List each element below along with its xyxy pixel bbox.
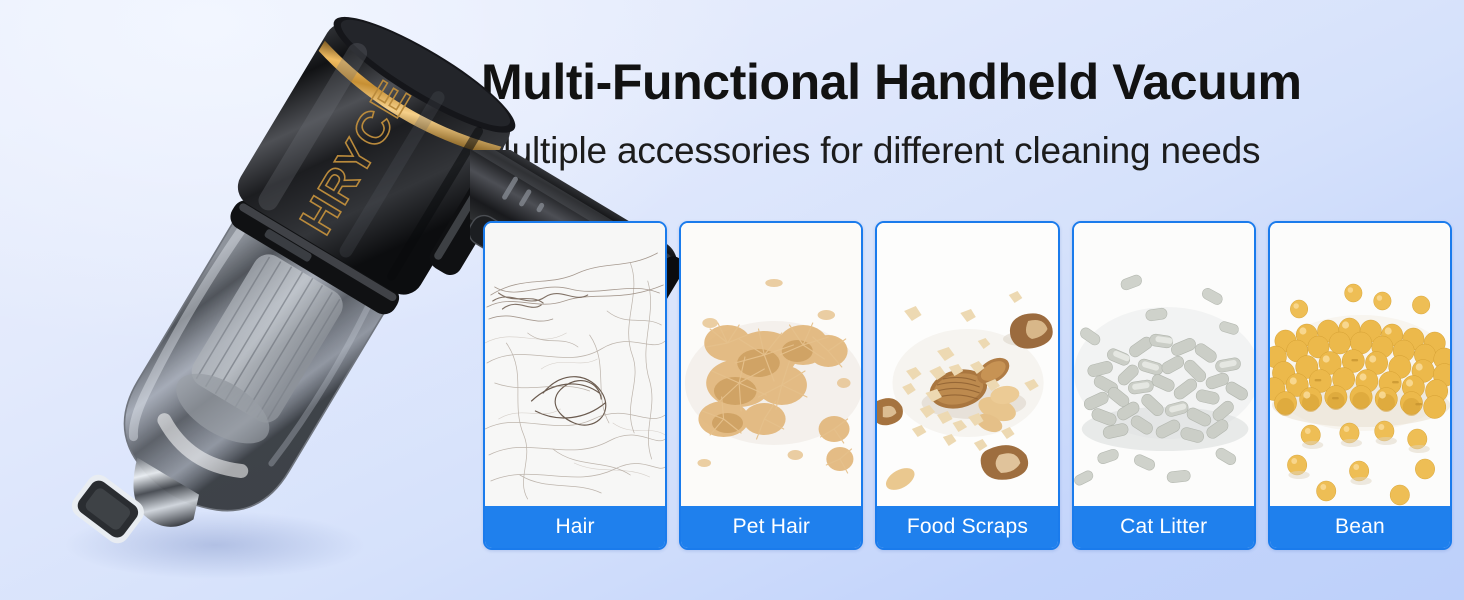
use-case-card-row: Hair: [483, 221, 1452, 550]
photo-cat-litter: [1074, 223, 1254, 508]
card-label-pet-hair: Pet Hair: [681, 506, 861, 548]
card-label-cat-litter: Cat Litter: [1074, 506, 1254, 548]
photo-food-scraps: [877, 223, 1057, 508]
card-label-hair: Hair: [485, 506, 665, 548]
card-label-bean: Bean: [1270, 506, 1450, 548]
photo-hair: [485, 223, 665, 508]
photo-bean: [1270, 223, 1450, 508]
card-label-food-scraps: Food Scraps: [877, 506, 1057, 548]
card-bean[interactable]: Bean: [1268, 221, 1452, 550]
photo-pet-hair: [681, 223, 861, 508]
card-cat-litter[interactable]: Cat Litter: [1072, 221, 1256, 550]
card-pet-hair[interactable]: Pet Hair: [679, 221, 863, 550]
card-food-scraps[interactable]: Food Scraps: [875, 221, 1059, 550]
card-hair[interactable]: Hair: [483, 221, 667, 550]
promo-banner: HRYCE: [0, 0, 1464, 600]
